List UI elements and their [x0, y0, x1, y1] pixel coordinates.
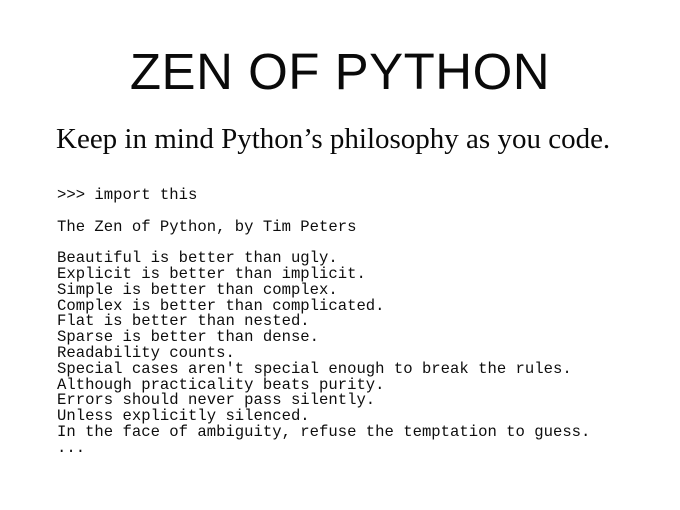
- console-line: In the face of ambiguity, refuse the tem…: [57, 425, 657, 441]
- console-line: ...: [57, 441, 657, 457]
- console-line: The Zen of Python, by Tim Peters: [57, 220, 657, 236]
- slide-canvas: ZEN OF PYTHON Keep in mind Python’s phil…: [0, 0, 680, 510]
- slide-subtitle: Keep in mind Python’s philosophy as you …: [56, 122, 610, 156]
- page-title: ZEN OF PYTHON: [0, 44, 680, 100]
- console-line: >>> import this: [57, 188, 657, 204]
- python-console-transcript: >>> import this The Zen of Python, by Ti…: [57, 188, 657, 457]
